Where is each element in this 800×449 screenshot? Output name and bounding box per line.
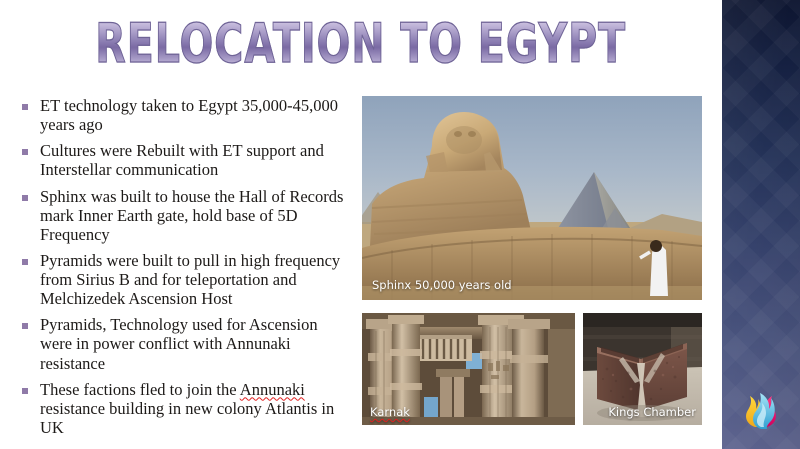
image-kings-chamber: Kings Chamber [583, 313, 702, 425]
list-item: Pyramids, Technology used for Ascension … [22, 315, 352, 372]
bullet-item-text: ET technology taken to Egypt 35,000-45,0… [40, 96, 352, 134]
slide-decorative-sidebar [722, 0, 800, 449]
spellcheck-error-word: Annunaki [240, 380, 305, 399]
bullet-item-text: Pyramids, Technology used for Ascension … [40, 315, 352, 372]
spellcheck-error-word: Karnak [370, 405, 410, 419]
square-bullet-icon [22, 195, 28, 201]
slide-title-area: RELOCATION TO EGYPT [0, 8, 722, 78]
presentation-slide: RELOCATION TO EGYPT ET technology taken … [0, 0, 800, 449]
square-bullet-icon [22, 323, 28, 329]
square-bullet-icon [22, 388, 28, 394]
square-bullet-icon [22, 104, 28, 110]
page-title: RELOCATION TO EGYPT [96, 16, 627, 70]
list-item: Pyramids were built to pull in high freq… [22, 251, 352, 308]
bullet-item-text: Sphinx was built to house the Hall of Re… [40, 187, 352, 244]
list-item: Cultures were Rebuilt with ET support an… [22, 141, 352, 179]
square-bullet-icon [22, 149, 28, 155]
bullet-item-text: Cultures were Rebuilt with ET support an… [40, 141, 352, 179]
image-caption-kings-chamber: Kings Chamber [608, 405, 696, 419]
bullet-item-text: Pyramids were built to pull in high freq… [40, 251, 352, 308]
square-bullet-icon [22, 259, 28, 265]
image-karnak: Karnak [362, 313, 575, 425]
list-item: ET technology taken to Egypt 35,000-45,0… [22, 96, 352, 134]
image-sphinx: Sphinx 50,000 years old [362, 96, 702, 300]
sphinx-photo-graphic [362, 96, 702, 300]
image-caption-karnak: Karnak [370, 405, 410, 419]
list-item: Sphinx was built to house the Hall of Re… [22, 187, 352, 244]
tri-color-flame-logo-icon [739, 377, 783, 431]
bullet-item-text: These factions fled to join the Annunaki… [40, 380, 352, 437]
bullet-list: ET technology taken to Egypt 35,000-45,0… [22, 96, 352, 444]
list-item: These factions fled to join the Annunaki… [22, 380, 352, 437]
image-caption-sphinx: Sphinx 50,000 years old [372, 278, 512, 292]
